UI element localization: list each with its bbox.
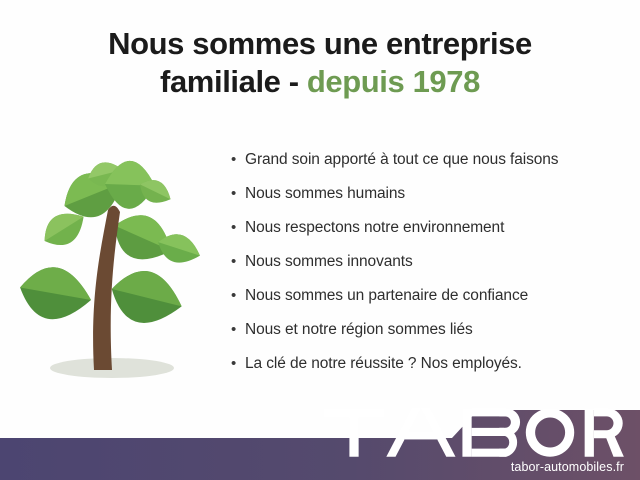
benefits-list: • Grand soin apporté à tout ce que nous …: [231, 151, 631, 389]
list-item-label: Nous et notre région sommes liés: [245, 321, 473, 339]
list-item-label: La clé de notre réussite ? Nos employés.: [245, 355, 522, 373]
list-item: • Nous sommes humains: [231, 185, 631, 219]
title-line-2-plain: familiale -: [160, 64, 307, 99]
bullet-marker-icon: •: [231, 186, 245, 201]
list-item: • Nous sommes un partenaire de confiance: [231, 287, 631, 321]
tree-illustration: [8, 148, 220, 392]
list-item-label: Grand soin apporté à tout ce que nous fa…: [245, 151, 558, 169]
page-title: Nous sommes une entreprise familiale - d…: [0, 26, 640, 101]
list-item-label: Nous respectons notre environnement: [245, 219, 504, 237]
list-item: • Nous respectons notre environnement: [231, 219, 631, 253]
list-item: • Nous et notre région sommes liés: [231, 321, 631, 355]
list-item: • Nous sommes innovants: [231, 253, 631, 287]
bullet-marker-icon: •: [231, 288, 245, 303]
bullet-marker-icon: •: [231, 152, 245, 167]
list-item-label: Nous sommes innovants: [245, 253, 413, 271]
list-item-label: Nous sommes un partenaire de confiance: [245, 287, 528, 305]
tree-shadow: [50, 358, 174, 378]
slide-canvas: Nous sommes une entreprise familiale - d…: [0, 0, 640, 480]
list-item-label: Nous sommes humains: [245, 185, 405, 203]
bullet-marker-icon: •: [231, 220, 245, 235]
bullet-marker-icon: •: [231, 356, 245, 371]
title-accent-text: depuis 1978: [307, 64, 480, 99]
list-item: • Grand soin apporté à tout ce que nous …: [231, 151, 631, 185]
bullet-marker-icon: •: [231, 322, 245, 337]
title-line-2: familiale - depuis 1978: [0, 64, 640, 100]
title-line-1: Nous sommes une entreprise: [0, 26, 640, 62]
list-item: • La clé de notre réussite ? Nos employé…: [231, 355, 631, 389]
footer-shape: [0, 410, 640, 480]
bullet-marker-icon: •: [231, 254, 245, 269]
footer-bar: tabor-automobiles.fr: [0, 408, 640, 480]
